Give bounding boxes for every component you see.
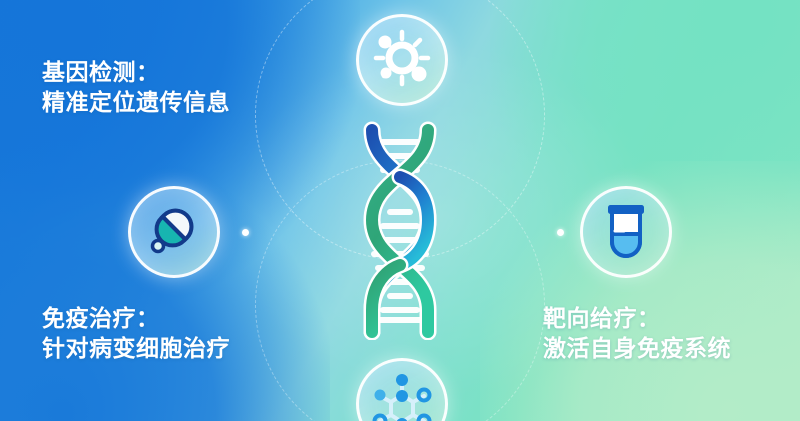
virus-cell-icon xyxy=(371,27,433,94)
icon-badge-test-tube[interactable] xyxy=(580,186,672,278)
icon-badge-capsule-pill[interactable] xyxy=(128,186,220,278)
caption-targeted-therapy-subtext: 激活自身免疫系统 xyxy=(543,333,731,363)
molecule-network-icon xyxy=(371,371,433,421)
caption-gene-testing: 基因检测： 精准定位遗传信息 xyxy=(42,57,230,118)
capsule-pill-icon xyxy=(144,200,204,265)
orbit-marker-dot-right xyxy=(557,229,564,236)
caption-immunotherapy-subtext: 针对病变细胞治疗 xyxy=(42,333,230,363)
infographic-canvas: 基因检测： 精准定位遗传信息 免疫治疗： 针对病变细胞治疗 靶向给疗： 激活自身… xyxy=(0,0,800,421)
caption-gene-testing-heading: 基因检测： xyxy=(42,57,230,87)
caption-immunotherapy: 免疫治疗： 针对病变细胞治疗 xyxy=(42,303,230,364)
caption-gene-testing-subtext: 精准定位遗传信息 xyxy=(42,87,230,117)
dna-double-helix xyxy=(352,120,448,340)
orbit-marker-dot-left xyxy=(242,229,249,236)
caption-targeted-therapy-heading: 靶向给疗： xyxy=(543,303,731,333)
caption-targeted-therapy: 靶向给疗： 激活自身免疫系统 xyxy=(543,303,731,364)
test-tube-icon xyxy=(598,200,654,265)
icon-badge-virus-cell[interactable] xyxy=(356,14,448,106)
caption-immunotherapy-heading: 免疫治疗： xyxy=(42,303,230,333)
